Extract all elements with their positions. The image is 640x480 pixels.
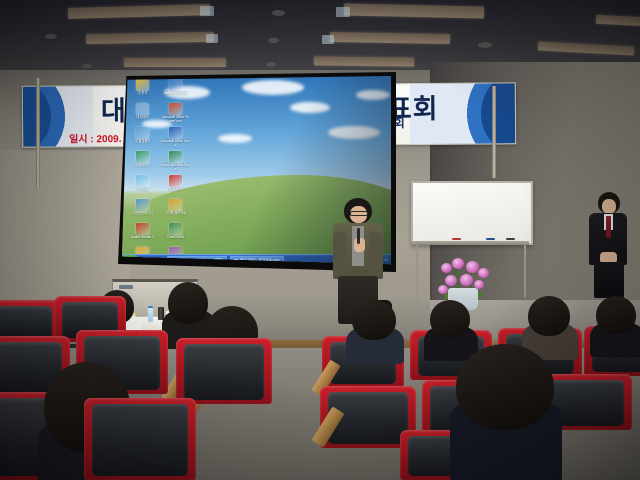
ceiling-light-glow <box>200 6 214 16</box>
presenter-left-arm <box>333 232 346 276</box>
orchid-bloom <box>452 258 464 269</box>
whiteboard-leg <box>524 245 526 297</box>
ceiling-light-fixture <box>124 58 226 67</box>
host-necktie <box>606 216 611 238</box>
ceiling-light-glow <box>206 34 218 43</box>
ceiling-speaker <box>268 38 279 43</box>
ceiling-light-fixture <box>538 41 634 55</box>
whiteboard-eraser <box>506 238 515 240</box>
orchid-bloom <box>460 274 473 286</box>
left-wall <box>0 150 130 310</box>
audience-member-head <box>596 296 636 334</box>
photo-scene: 대구대 발표회 대구 표회 일시 : 2009. 11. 20(금 : 대구대학… <box>0 0 640 480</box>
ceiling-vent <box>478 42 492 48</box>
audience-member-head <box>168 282 208 324</box>
host-trousers <box>594 262 624 298</box>
orchid-bloom <box>445 275 457 286</box>
whiteboard-pen-tray <box>411 241 529 245</box>
microphone <box>357 228 360 244</box>
audience-member-head <box>352 300 396 340</box>
ceiling-light-fixture <box>314 56 414 66</box>
ceiling-light-fixture <box>86 32 214 44</box>
orchid-bloom <box>466 261 479 273</box>
water-bottle <box>148 306 153 322</box>
wall-conduit-pipe <box>492 86 496 178</box>
ceiling-light-fixture <box>596 15 640 27</box>
ceiling-light-glow <box>336 7 350 17</box>
audience-member-head <box>528 296 570 336</box>
audience-member-head <box>430 300 470 338</box>
whiteboard-marker <box>452 238 461 240</box>
whiteboard-leg <box>416 245 418 301</box>
host-face <box>602 199 616 214</box>
ceiling-speaker <box>82 64 92 68</box>
ceiling-light-fixture <box>330 32 450 44</box>
ceiling-light-glow <box>322 35 334 44</box>
whiteboard <box>411 181 533 245</box>
ceiling-speaker <box>272 10 285 16</box>
glasses-icon <box>350 211 368 216</box>
seat-cushion <box>92 404 188 476</box>
seat-cushion <box>0 306 52 338</box>
orchid-bloom <box>478 268 489 278</box>
seat-cushion <box>184 344 264 400</box>
wall-conduit-pipe <box>36 78 40 188</box>
ceiling-speaker <box>45 34 57 39</box>
whiteboard-marker <box>486 238 495 240</box>
podium-label-plate <box>119 285 133 289</box>
orchid-bloom <box>441 263 452 273</box>
ceiling-light-fixture <box>344 4 484 19</box>
ceiling-speaker <box>266 62 276 67</box>
audience-member-head <box>456 344 554 430</box>
ceiling-light-fixture <box>68 4 210 19</box>
presenter-right-arm <box>369 232 382 276</box>
